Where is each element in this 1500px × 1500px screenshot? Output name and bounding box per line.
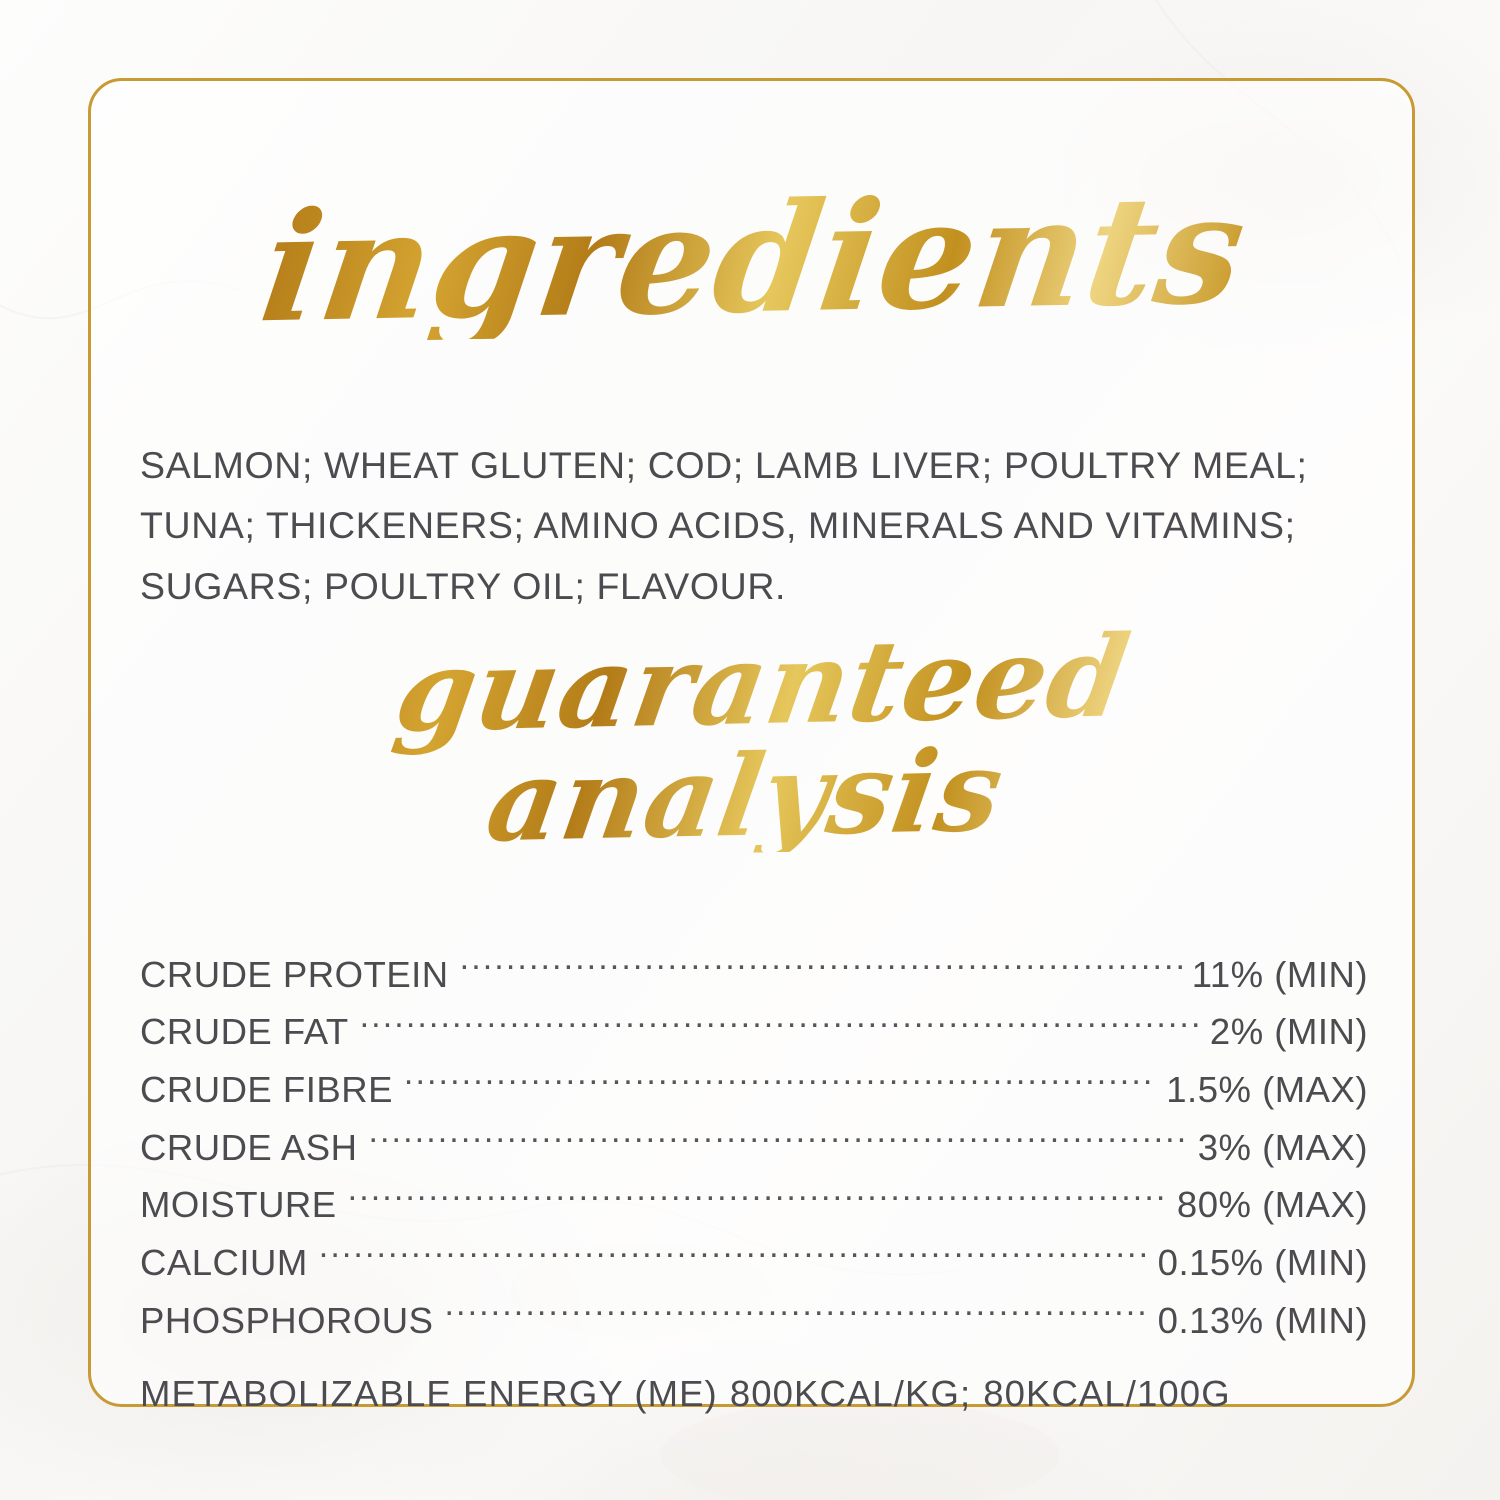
analysis-value: 0.13% (MIN) <box>1158 1292 1368 1350</box>
dot-leader <box>368 1123 1188 1160</box>
analysis-label: CALCIUM <box>140 1234 308 1292</box>
analysis-label: CRUDE PROTEIN <box>140 946 449 1004</box>
analysis-label: MOISTURE <box>140 1176 337 1234</box>
analysis-label: CRUDE FIBRE <box>140 1061 393 1119</box>
analysis-value: 11% (MIN) <box>1192 946 1368 1004</box>
dot-leader <box>445 1296 1149 1333</box>
analysis-label: CRUDE ASH <box>140 1119 357 1177</box>
analysis-row: CRUDE FIBRE 1.5% (MAX) <box>140 1061 1368 1119</box>
analysis-row: CRUDE FAT 2% (MIN) <box>140 1003 1368 1061</box>
dot-leader <box>460 950 1183 987</box>
page-title-ingredients: ingredients <box>128 172 1380 346</box>
dot-leader <box>348 1181 1168 1218</box>
metabolizable-energy-line: METABOLIZABLE ENERGY (ME)800KCAL/KG;80KC… <box>140 1365 1368 1423</box>
analysis-row: CALCIUM 0.15% (MIN) <box>140 1234 1368 1292</box>
analysis-value: 0.15% (MIN) <box>1158 1234 1368 1292</box>
dot-leader <box>404 1066 1157 1103</box>
analysis-label: CRUDE FAT <box>140 1003 349 1061</box>
analysis-row: CRUDE PROTEIN 11% (MIN) <box>140 946 1368 1004</box>
energy-label: METABOLIZABLE ENERGY (ME) <box>140 1373 718 1414</box>
analysis-value: 80% (MAX) <box>1177 1176 1368 1234</box>
analysis-label: PHOSPHOROUS <box>140 1292 434 1350</box>
dot-leader <box>360 1008 1201 1045</box>
analysis-value: 2% (MIN) <box>1210 1003 1368 1061</box>
dot-leader <box>319 1238 1149 1275</box>
energy-per-100g: 80KCAL/100G <box>983 1373 1230 1414</box>
label-content: ingredients SALMON; WHEAT GLUTEN; COD; L… <box>140 140 1368 1423</box>
section-title-guaranteed-analysis: guaranteed analysis <box>120 616 1387 866</box>
energy-per-kg: 800KCAL/KG; <box>730 1373 971 1414</box>
analysis-row: PHOSPHOROUS 0.13% (MIN) <box>140 1292 1368 1350</box>
analysis-value: 3% (MAX) <box>1198 1119 1368 1177</box>
analysis-value: 1.5% (MAX) <box>1166 1061 1368 1119</box>
guaranteed-analysis-list: CRUDE PROTEIN 11% (MIN) CRUDE FAT 2% (MI… <box>140 946 1368 1350</box>
analysis-row: MOISTURE 80% (MAX) <box>140 1176 1368 1234</box>
analysis-row: CRUDE ASH 3% (MAX) <box>140 1119 1368 1177</box>
label-page: ingredients SALMON; WHEAT GLUTEN; COD; L… <box>0 0 1500 1500</box>
ingredients-text: SALMON; WHEAT GLUTEN; COD; LAMB LIVER; P… <box>140 435 1368 617</box>
